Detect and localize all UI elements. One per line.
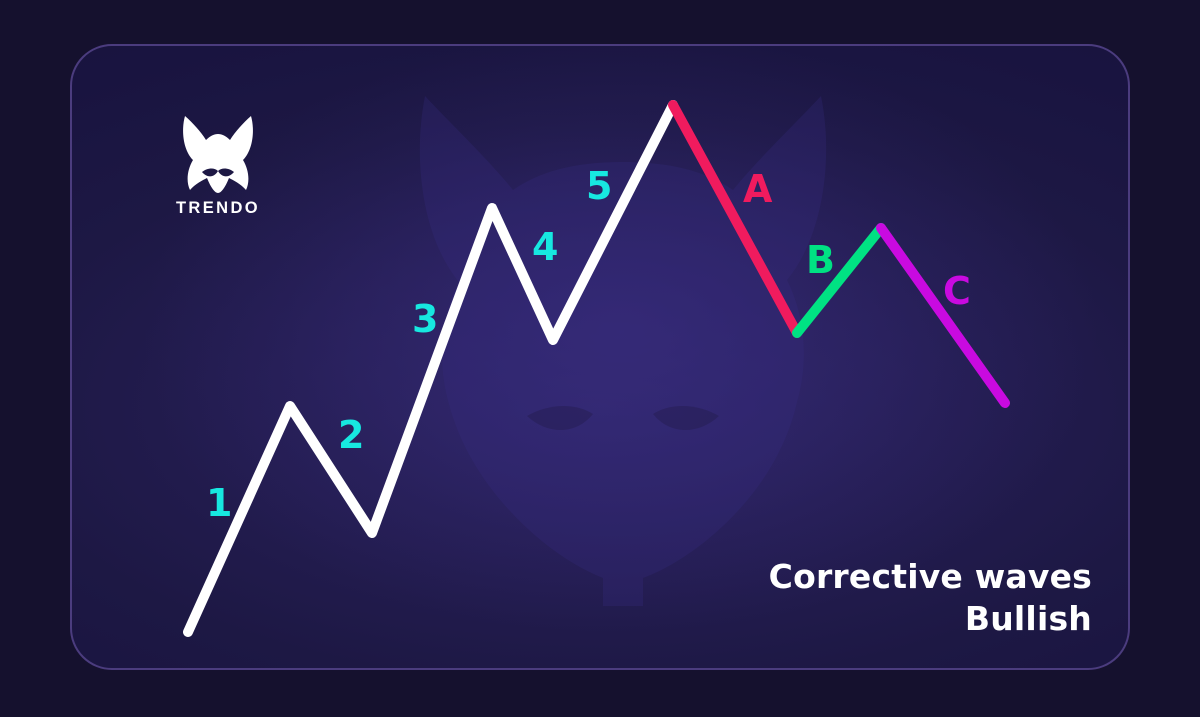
wave-label-a: A (743, 170, 772, 208)
wave-label-2: 2 (338, 416, 364, 454)
caption-line-2: Bullish (769, 598, 1092, 640)
wave-a-line (673, 105, 797, 333)
wave-label-c: C (943, 272, 971, 310)
wave-label-5: 5 (586, 167, 612, 205)
chart-caption: Corrective waves Bullish (769, 556, 1092, 640)
screenshot-root: TRENDO 1 2 3 4 5 A B C Corrective waves … (0, 0, 1200, 717)
wave-label-1: 1 (206, 484, 232, 522)
caption-line-1: Corrective waves (769, 557, 1092, 596)
wave-label-3: 3 (412, 300, 438, 338)
wave-c-line (881, 228, 1005, 403)
wave-label-4: 4 (532, 228, 558, 266)
wave-label-b: B (806, 241, 835, 279)
